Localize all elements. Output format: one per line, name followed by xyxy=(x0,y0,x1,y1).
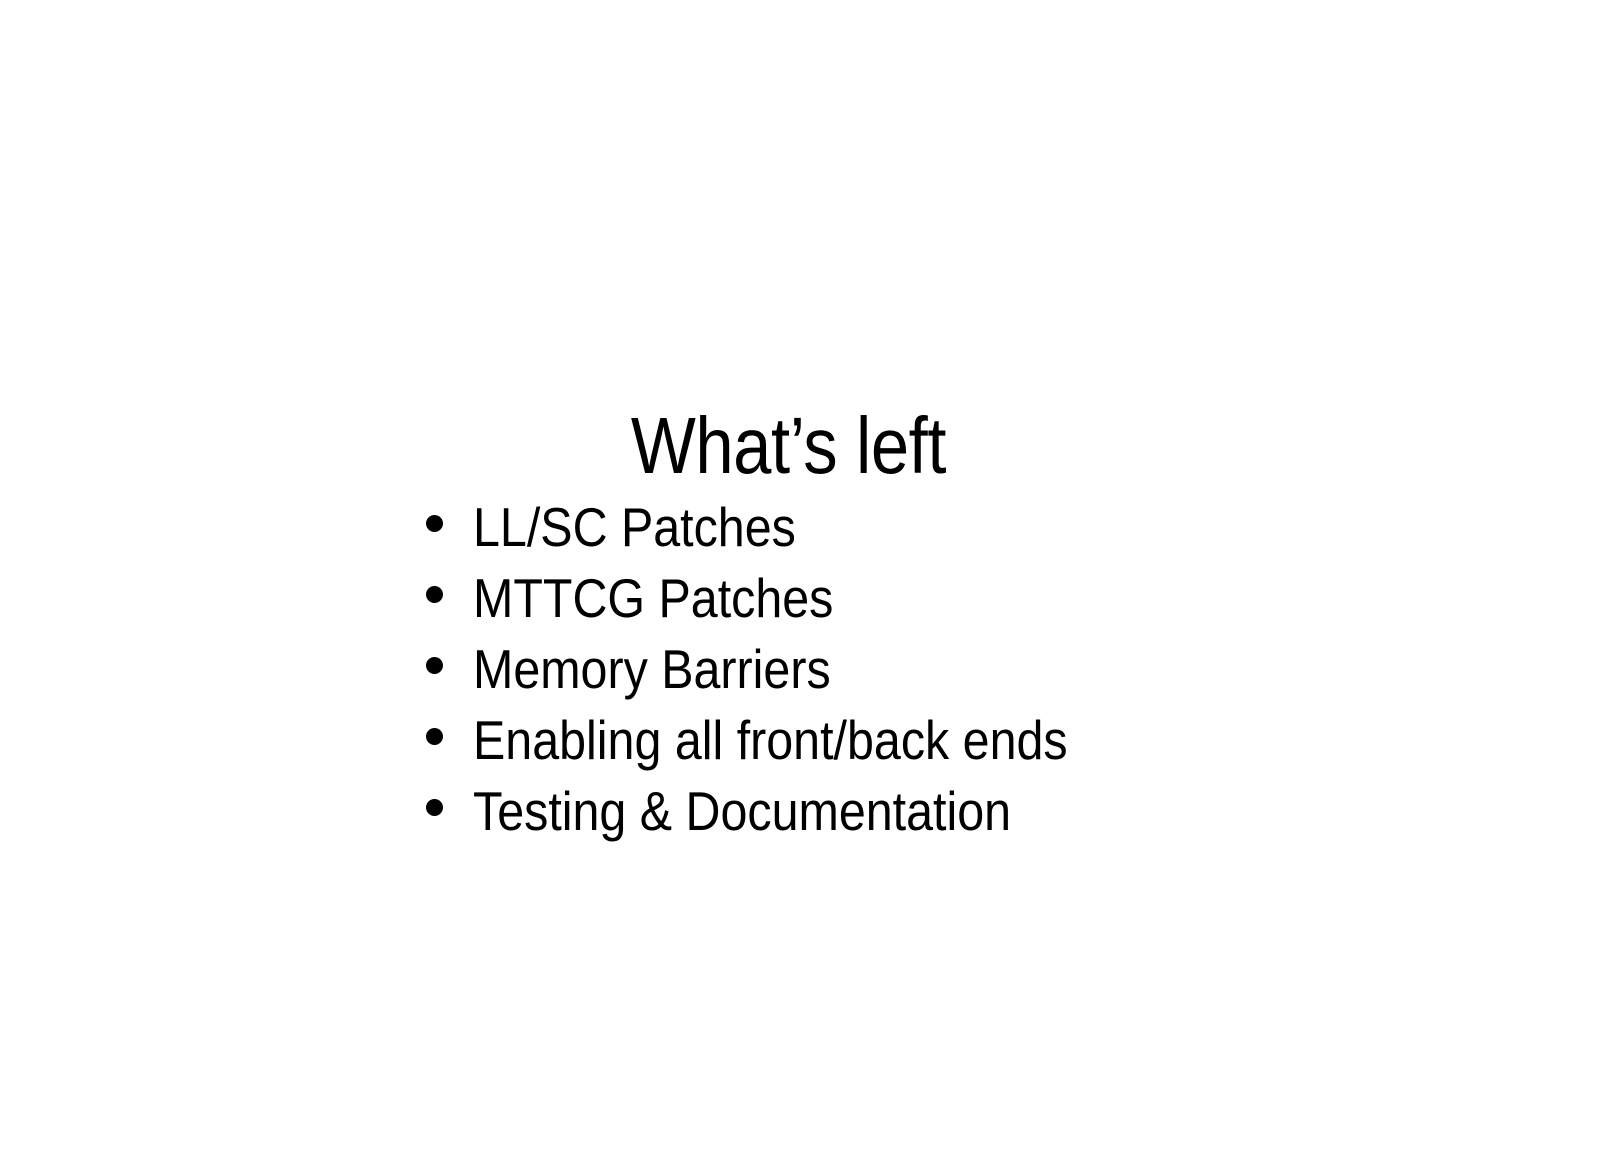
list-item: Enabling all front/back ends xyxy=(425,705,1149,776)
list-item-label: Enabling all front/back ends xyxy=(473,705,1068,776)
list-item-label: Testing & Documentation xyxy=(473,776,1011,847)
list-item: Memory Barriers xyxy=(425,634,1149,705)
bullet-dot-icon xyxy=(425,728,473,745)
list-item: MTTCG Patches xyxy=(425,563,1149,634)
bullet-list: LL/SC Patches MTTCG Patches Memory Barri… xyxy=(425,492,1149,847)
list-item-label: Memory Barriers xyxy=(473,634,831,705)
list-item: LL/SC Patches xyxy=(425,492,1149,563)
list-item: Testing & Documentation xyxy=(425,776,1149,847)
bullet-dot-icon xyxy=(425,586,473,603)
page-title: What’s left xyxy=(110,406,1466,486)
list-item-label: LL/SC Patches xyxy=(473,492,796,563)
list-item-label: MTTCG Patches xyxy=(473,563,833,634)
bullet-dot-icon xyxy=(425,799,473,816)
bullet-dot-icon xyxy=(425,657,473,674)
bullet-dot-icon xyxy=(425,515,473,532)
presentation-slide: What’s left LL/SC Patches MTTCG Patches … xyxy=(0,0,1600,1166)
